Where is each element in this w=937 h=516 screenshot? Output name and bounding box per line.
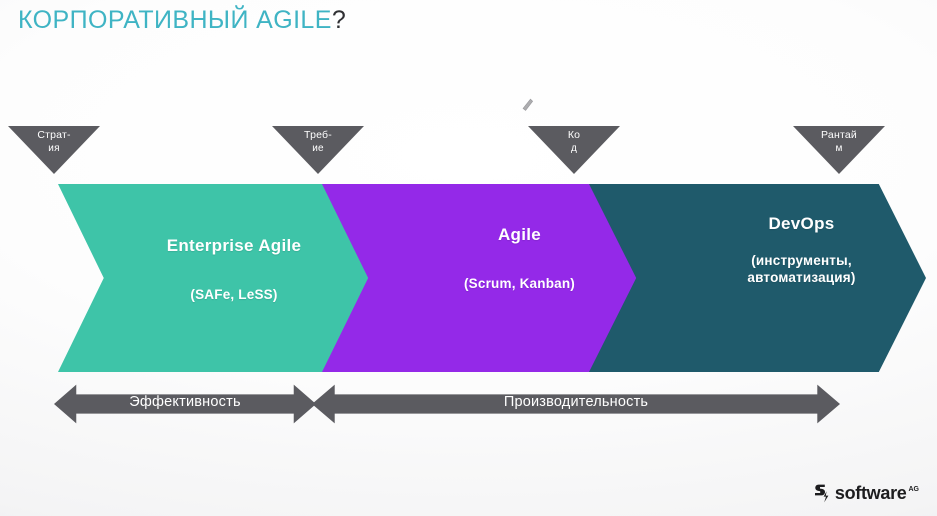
triangle-down-icon [8, 126, 100, 174]
double-arrow-icon [312, 383, 840, 425]
chevron-devops: DevOps (инструменты, автоматизация) [589, 184, 926, 372]
double-arrow-icon [54, 383, 316, 425]
pen-cursor-icon [521, 98, 534, 113]
stage-marker-requirements: Треб- ие [272, 126, 364, 174]
stage-marker-runtime: Рантай м [793, 126, 885, 174]
stage-marker-strategy: Страт- ия [8, 126, 100, 174]
software-ag-wordmark: software [835, 483, 907, 504]
chevron-devops-subtitle-line1: (инструменты, [751, 253, 852, 268]
stage-marker-code: Ко д [528, 126, 620, 174]
triangle-down-icon [528, 126, 620, 174]
triangle-down-icon [272, 126, 364, 174]
software-ag-mark-icon [814, 484, 830, 503]
chevron-devops-subtitle: (инструменты, автоматизация) [589, 252, 937, 286]
triangle-down-icon [793, 126, 885, 174]
software-ag-superscript: AG [909, 486, 920, 493]
slide-canvas: КОРПОРАТИВНЫЙ AGILE? Страт- ия Треб- ие … [0, 0, 937, 516]
measure-arrow-productivity: Производительность [312, 383, 840, 425]
chevron-devops-subtitle-line2: автоматизация) [747, 270, 855, 285]
page-title-text: КОРПОРАТИВНЫЙ AGILE [18, 6, 332, 34]
measure-arrow-efficiency: Эффективность [54, 383, 316, 425]
chevron-devops-title: DevOps [589, 214, 937, 234]
software-ag-logo: software AG [814, 483, 919, 504]
page-title-question-mark: ? [332, 6, 346, 34]
page-title: КОРПОРАТИВНЫЙ AGILE? [18, 6, 346, 35]
process-chevron-band: Enterprise Agile (SAFe, LeSS) Agile (Scr… [0, 184, 937, 372]
